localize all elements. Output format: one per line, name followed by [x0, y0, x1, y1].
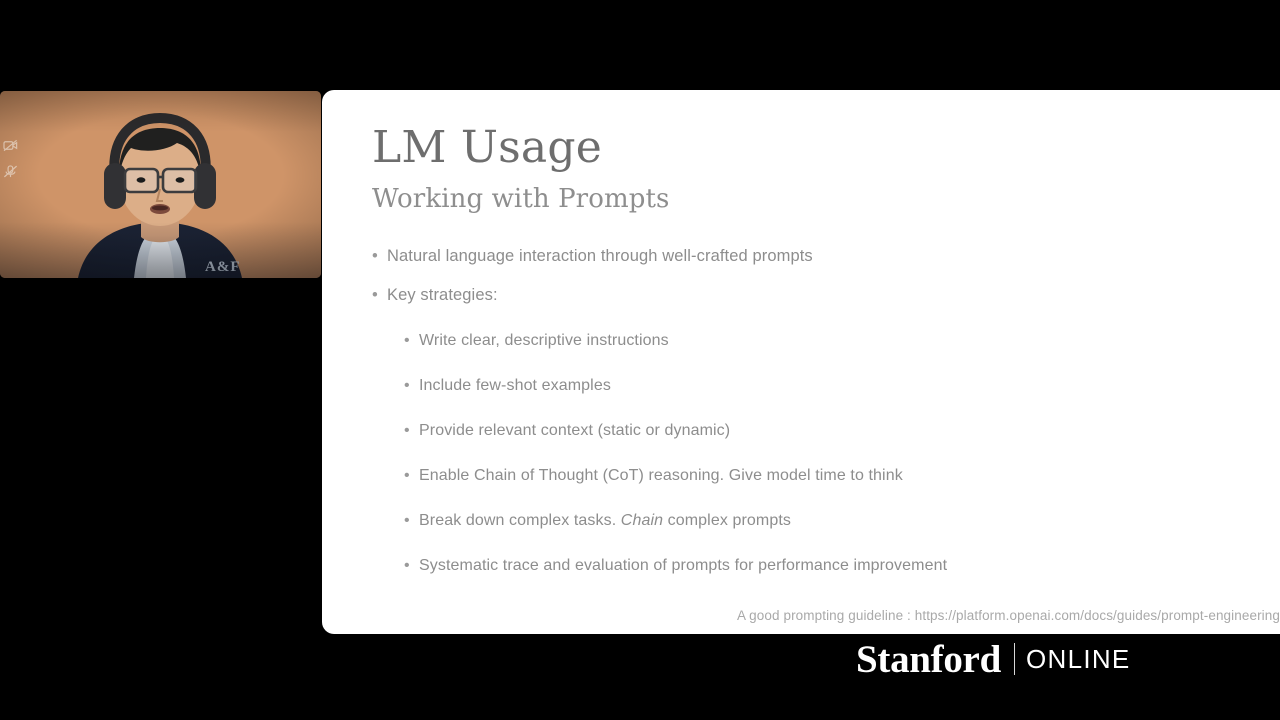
slide-bullet-text: Natural language interaction through wel…	[387, 246, 1280, 267]
presenter-video-tile[interactable]: A&F	[0, 91, 321, 278]
slide-title: LM Usage	[372, 124, 1280, 172]
bullet-marker-icon: •	[404, 511, 419, 531]
bullet-marker-icon: •	[404, 376, 419, 396]
slide-bullet-text: Include few-shot examples	[419, 376, 1280, 396]
slide-bullet: •Include few-shot examples	[404, 376, 1280, 396]
stanford-online-logo: Stanford ONLINE	[856, 639, 1131, 679]
slide-bullet: •Provide relevant context (static or dyn…	[404, 421, 1280, 441]
presentation-slide[interactable]: LM Usage Working with Prompts •Natural l…	[322, 90, 1280, 634]
slide-footer-note: A good prompting guideline : https://pla…	[737, 608, 1280, 623]
slide-bullet: •Key strategies:	[372, 285, 1280, 306]
slide-bullet-text: Break down complex tasks. Chain complex …	[419, 511, 1280, 531]
video-status-indicators	[3, 139, 18, 178]
bullet-marker-icon: •	[404, 556, 419, 576]
slide-bullet: •Break down complex tasks. Chain complex…	[404, 511, 1280, 531]
bullet-marker-icon: •	[372, 285, 387, 306]
logo-wordmark-stanford: Stanford	[856, 640, 1001, 679]
slide-bullet: •Enable Chain of Thought (CoT) reasoning…	[404, 466, 1280, 486]
camera-off-icon[interactable]	[3, 139, 18, 152]
slide-subtitle: Working with Prompts	[372, 184, 1280, 214]
slide-bullet: •Systematic trace and evaluation of prom…	[404, 556, 1280, 576]
slide-bullet: •Natural language interaction through we…	[372, 246, 1280, 267]
mic-off-icon[interactable]	[3, 165, 18, 178]
logo-wordmark-online: ONLINE	[1026, 646, 1131, 672]
bullet-marker-icon: •	[404, 421, 419, 441]
bullet-marker-icon: •	[404, 331, 419, 351]
slide-bullet-text: Key strategies:	[387, 285, 1280, 306]
slide-content: LM Usage Working with Prompts •Natural l…	[372, 124, 1280, 634]
slide-bullet-list: •Natural language interaction through we…	[372, 246, 1280, 576]
slide-bullet-text: Enable Chain of Thought (CoT) reasoning.…	[419, 466, 1280, 486]
video-vignette	[0, 91, 321, 278]
slide-bullet-emphasis: Chain	[621, 512, 663, 529]
slide-bullet-text: Write clear, descriptive instructions	[419, 331, 1280, 351]
bullet-marker-icon: •	[404, 466, 419, 486]
bullet-marker-icon: •	[372, 246, 387, 267]
slide-bullet: •Write clear, descriptive instructions	[404, 331, 1280, 351]
slide-bullet-text: Provide relevant context (static or dyna…	[419, 421, 1280, 441]
logo-divider	[1014, 643, 1015, 675]
slide-bullet-text: Systematic trace and evaluation of promp…	[419, 556, 1280, 576]
presentation-stage: A&F LM Usage Working with Prompts •Natur…	[0, 0, 1280, 720]
